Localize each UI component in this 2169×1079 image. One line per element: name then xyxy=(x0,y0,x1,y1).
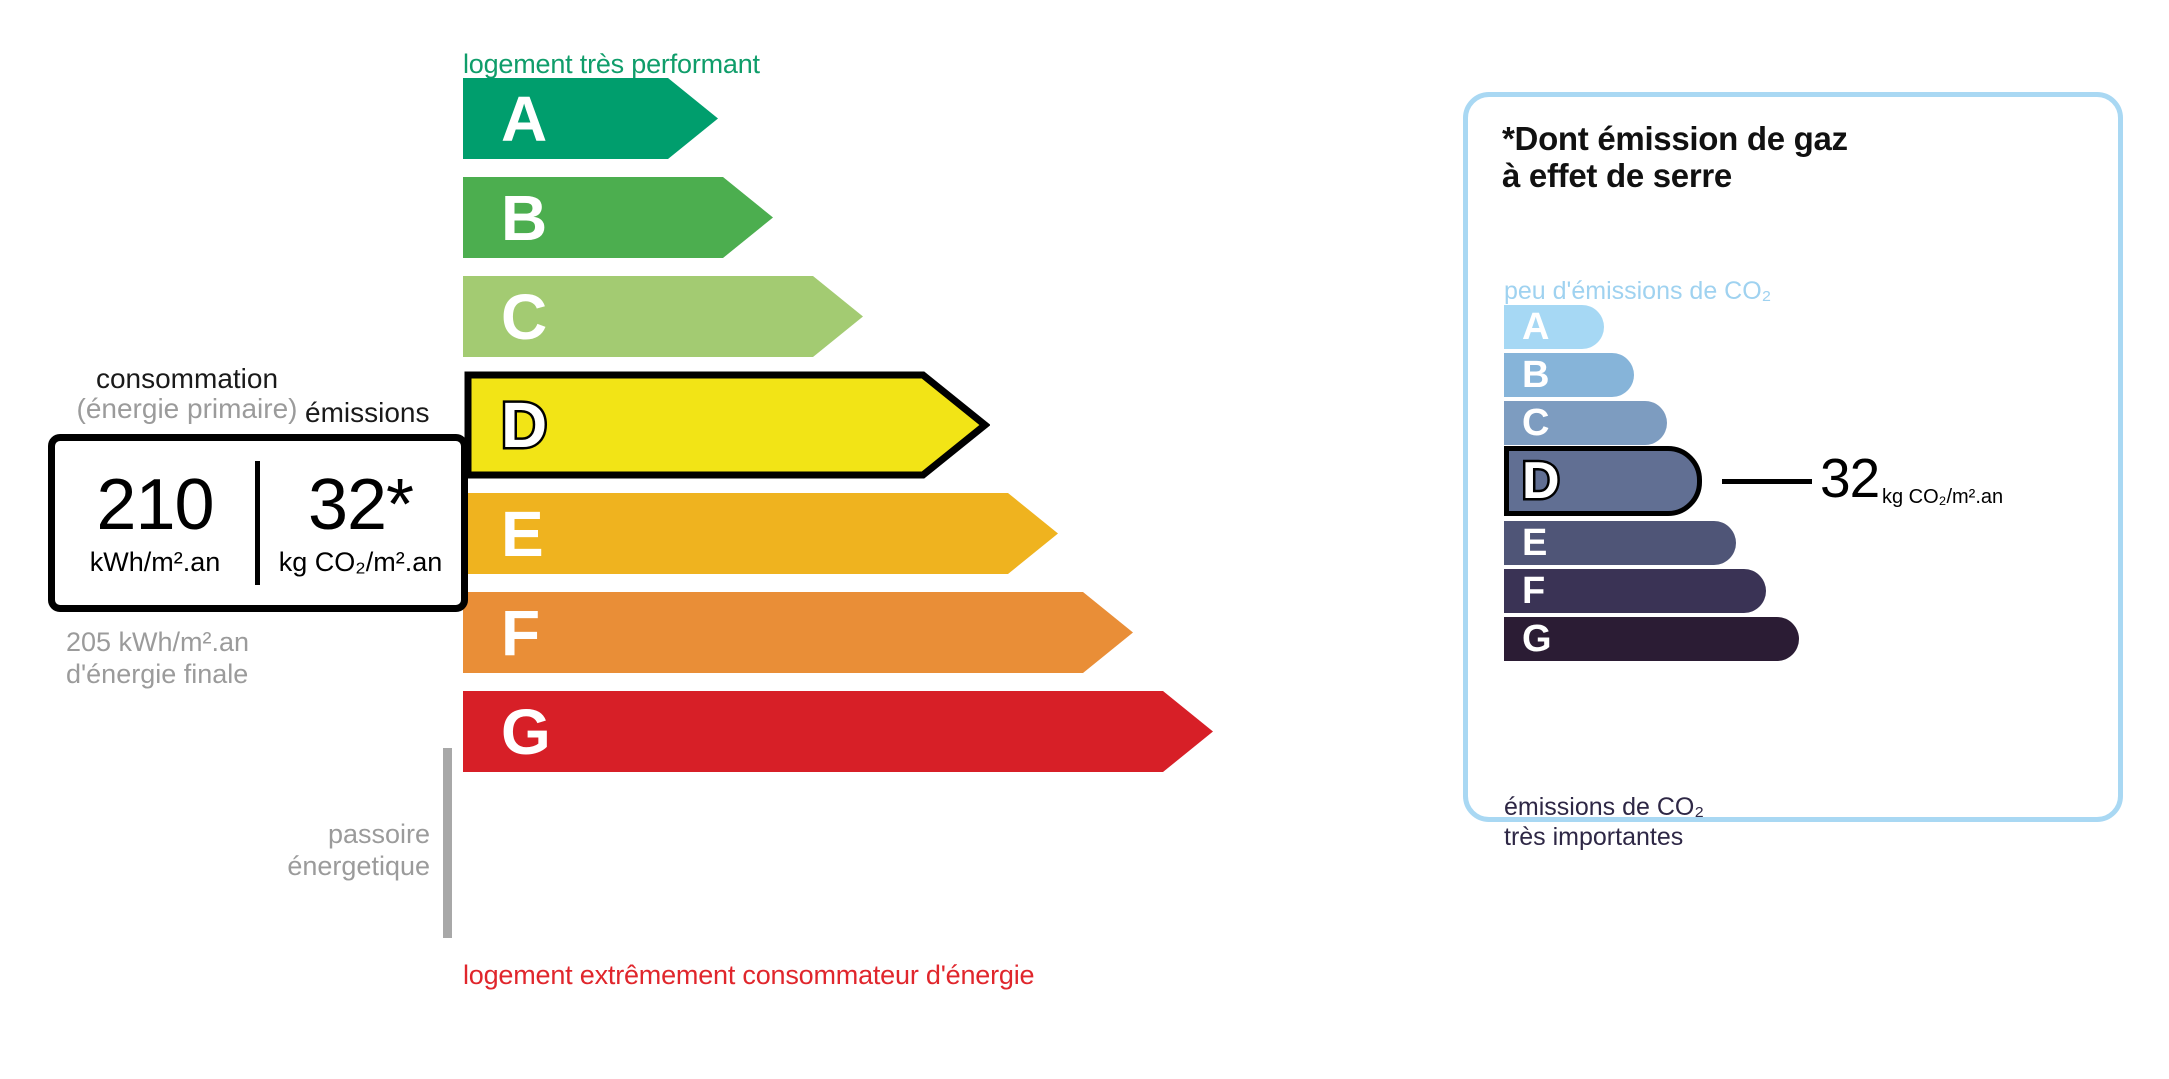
ges-current-unit: kg CO₂/m².an xyxy=(1882,486,2003,509)
energy-class-letter-f: F xyxy=(501,601,540,665)
ges-emission-unit: kg CO₂/m².an xyxy=(279,547,443,578)
energy-performance-panel: logement très performant ABCDEFG passoir… xyxy=(0,0,1420,1079)
primary-energy-unit: kWh/m².an xyxy=(90,547,221,578)
energy-class-letter-g: G xyxy=(501,700,551,764)
passoire-label-line1: passoire xyxy=(328,819,430,849)
energy-class-row-f: F xyxy=(463,592,1145,673)
emissions-label: émissions xyxy=(305,397,429,429)
ges-class-row-c: C xyxy=(1504,401,1667,445)
passoire-label-line2: énergetique xyxy=(287,851,430,881)
ges-class-row-a: A xyxy=(1504,305,1604,349)
final-energy-line1: 205 kWh/m².an xyxy=(66,627,249,657)
energy-class-row-e: E xyxy=(463,493,1070,574)
passoire-label: passoire énergetique xyxy=(195,818,430,883)
ges-class-row-f: F xyxy=(1504,569,1766,613)
energy-arrow-g: G xyxy=(463,691,1225,772)
ges-bottom-line1: émissions de CO₂ xyxy=(1504,793,1704,821)
ges-current-value: 32 xyxy=(1820,451,1879,506)
ges-value-cell: 32* kg CO₂/m².an xyxy=(260,441,461,605)
energy-class-row-c: C xyxy=(463,276,875,357)
passoire-marker-bar xyxy=(443,748,452,938)
primary-energy-value: 210 xyxy=(96,469,213,541)
ges-class-row-e: E xyxy=(1504,521,1736,565)
ges-bottom-annotation: émissions de CO₂ très importantes xyxy=(1504,793,1704,852)
energy-arrow-b: B xyxy=(463,177,785,258)
energy-arrow-c: C xyxy=(463,276,875,357)
ges-bottom-line2: très importantes xyxy=(1504,823,1683,851)
primary-energy-cell: 210 kWh/m².an xyxy=(55,441,255,605)
ges-class-letter-c: C xyxy=(1522,404,1549,442)
energy-arrow-d: D xyxy=(463,375,992,475)
ges-class-letter-e: E xyxy=(1522,524,1547,562)
ges-class-letter-a: A xyxy=(1522,308,1549,346)
energy-class-row-d: D xyxy=(463,375,992,475)
final-energy-line2: d'énergie finale xyxy=(66,659,248,689)
ges-class-row-b: B xyxy=(1504,353,1634,397)
energy-bottom-annotation: logement extrêmement consommateur d'éner… xyxy=(463,960,1034,991)
ges-class-row-d: D xyxy=(1504,446,1702,516)
consumption-label: consommation (énergie primaire) xyxy=(62,364,312,424)
energy-class-row-a: A xyxy=(463,78,730,159)
final-energy-label: 205 kWh/m².an d'énergie finale xyxy=(66,626,249,691)
dpe-ges-diagram: logement très performant ABCDEFG passoir… xyxy=(0,0,2169,1079)
greenhouse-gas-panel: *Dont émission de gaz à effet de serre p… xyxy=(1463,92,2123,822)
ges-panel-title: *Dont émission de gaz à effet de serre xyxy=(1502,121,1848,195)
consumption-label-main: consommation xyxy=(96,363,278,394)
ges-class-letter-f: F xyxy=(1522,572,1545,610)
energy-arrow-f: F xyxy=(463,592,1145,673)
energy-class-row-b: B xyxy=(463,177,785,258)
ges-leader-line xyxy=(1722,479,1812,484)
energy-class-row-g: G xyxy=(463,691,1225,772)
ges-top-annotation: peu d'émissions de CO₂ xyxy=(1504,277,1771,306)
energy-class-letter-b: B xyxy=(501,186,547,250)
energy-arrow-e: E xyxy=(463,493,1070,574)
consumption-label-sub: (énergie primaire) xyxy=(77,393,298,424)
energy-class-letter-e: E xyxy=(501,502,544,566)
ges-bar-a xyxy=(1504,305,1604,349)
ges-emission-value: 32* xyxy=(308,469,413,541)
energy-class-letter-c: C xyxy=(501,285,547,349)
energy-arrow-a: A xyxy=(463,78,730,159)
ges-class-letter-g: G xyxy=(1522,620,1552,658)
energy-class-letter-a: A xyxy=(501,87,547,151)
result-box: 210 kWh/m².an 32* kg CO₂/m².an xyxy=(48,434,468,612)
ges-class-letter-b: B xyxy=(1522,356,1549,394)
energy-top-annotation: logement très performant xyxy=(463,49,760,80)
energy-class-letter-d: D xyxy=(501,393,547,457)
ges-title-line1: *Dont émission de gaz xyxy=(1502,120,1848,157)
ges-class-row-g: G xyxy=(1504,617,1799,661)
ges-class-letter-d: D xyxy=(1522,455,1560,507)
ges-title-line2: à effet de serre xyxy=(1502,157,1732,194)
